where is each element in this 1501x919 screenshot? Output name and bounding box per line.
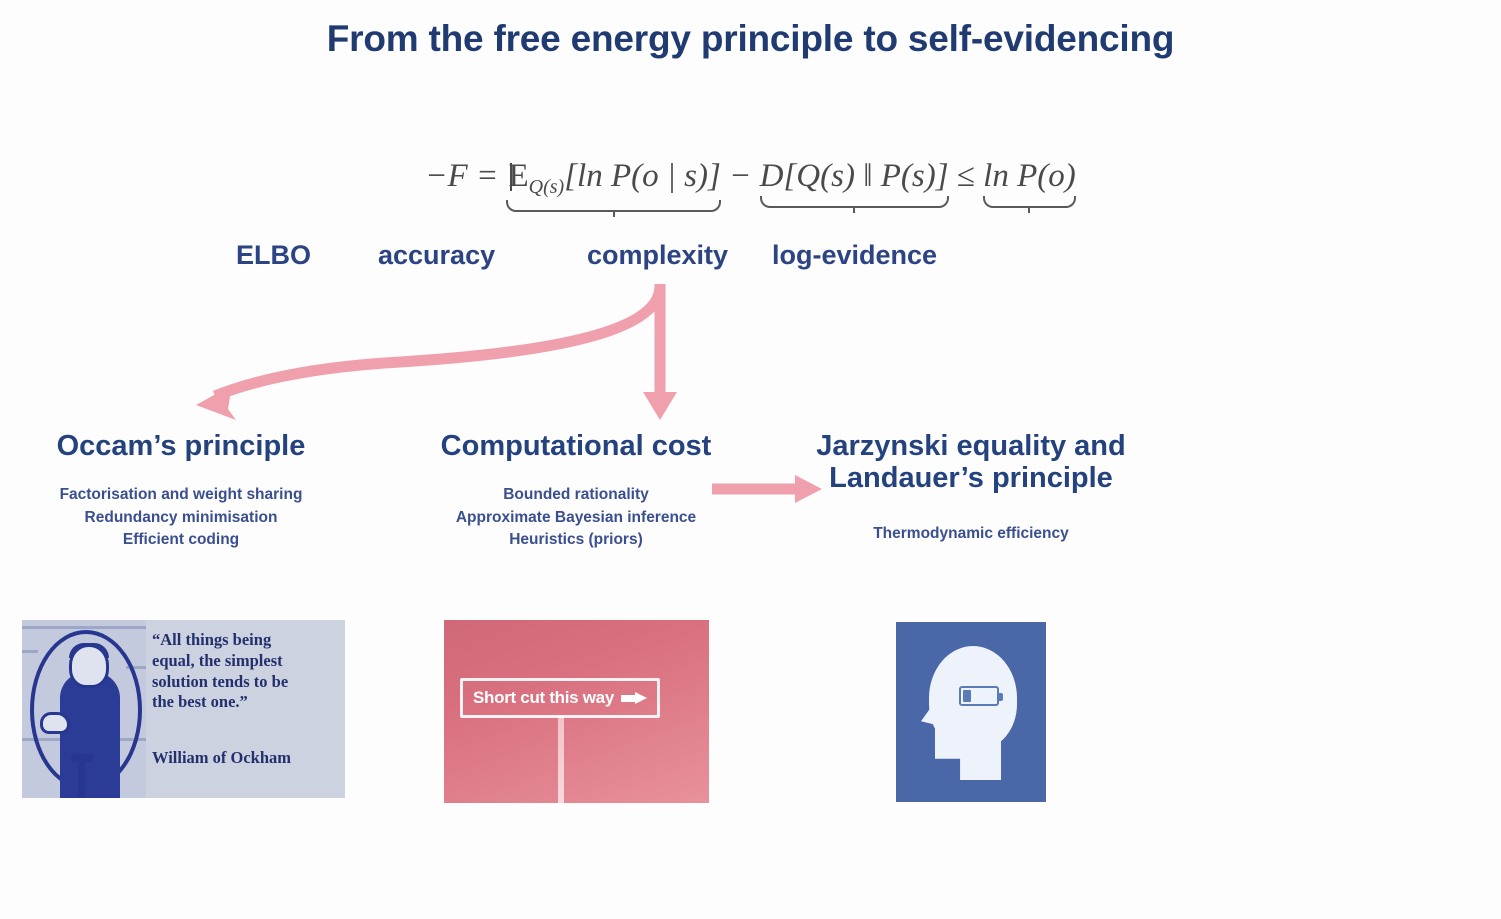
heading-line: Computational cost bbox=[420, 430, 732, 462]
monk-staff bbox=[78, 758, 85, 798]
page-title: From the free energy principle to self-e… bbox=[0, 18, 1501, 60]
down-arrow-head bbox=[643, 392, 677, 420]
bullet-line: Efficient coding bbox=[20, 529, 342, 551]
sign-label: Short cut this way bbox=[473, 688, 614, 708]
head-jaw bbox=[935, 724, 1001, 780]
curved-arrow-to-occam bbox=[215, 286, 660, 396]
low-battery-icon bbox=[959, 686, 999, 706]
heading-line: Jarzynski equality and bbox=[805, 430, 1137, 462]
monk-robe bbox=[60, 672, 120, 798]
sign-post bbox=[558, 716, 564, 803]
evidence-term: ln P(o) bbox=[983, 158, 1076, 194]
heading-line: Occam’s principle bbox=[20, 430, 342, 462]
free-energy-equation: −F = EQ(s)[ln P(o | s)] − D[Q(s) ‖ P(s)]… bbox=[425, 160, 1075, 197]
column-heading-occams-principle: Occam’s principle bbox=[20, 430, 342, 462]
monk-face bbox=[69, 644, 109, 688]
accuracy-underbrace bbox=[506, 200, 720, 215]
short-cut-sign-image: Short cut this way bbox=[444, 620, 709, 803]
inequality-symbol: ≤ bbox=[957, 158, 975, 194]
heading-line: Landauer’s principle bbox=[805, 462, 1137, 494]
complexity-term-group: D[Q(s) ‖ P(s)] bbox=[760, 160, 949, 193]
bullet-line: Factorisation and weight sharing bbox=[20, 484, 342, 506]
equation-label-complexity: complexity bbox=[587, 240, 728, 271]
quote-line: the best one.” bbox=[152, 692, 341, 713]
evidence-underbrace bbox=[983, 196, 1076, 211]
quote-line: solution tends to be bbox=[152, 672, 341, 693]
column-jarzynski-landauer: Jarzynski equality and Landauer’s princi… bbox=[805, 430, 1137, 545]
expectation-subscript: Q(s) bbox=[529, 176, 565, 198]
bullet-line: Approximate Bayesian inference bbox=[420, 507, 732, 529]
sign-board: Short cut this way bbox=[460, 678, 660, 718]
head-silhouette-icon bbox=[921, 646, 1017, 780]
column-bullets-computational-cost: Bounded rationality Approximate Bayesian… bbox=[420, 484, 732, 551]
ockham-quote-text: “All things being equal, the simplest so… bbox=[152, 630, 341, 713]
equation-label-log-evidence: log-evidence bbox=[772, 240, 937, 271]
equation-labels: ELBO accuracy complexity log-evidence bbox=[0, 240, 1501, 280]
head-battery-image bbox=[896, 622, 1046, 802]
right-arrow-icon bbox=[621, 692, 647, 704]
battery-fill bbox=[963, 690, 971, 702]
expectation-symbol: E bbox=[506, 160, 528, 193]
divergence-term: D[Q(s) ‖ P(s)] bbox=[760, 158, 949, 194]
complexity-underbrace bbox=[760, 196, 949, 211]
curved-arrow-head bbox=[196, 385, 236, 420]
monk-hand bbox=[40, 712, 70, 734]
equation-minus: − bbox=[729, 158, 751, 194]
quote-line: equal, the simplest bbox=[152, 651, 341, 672]
accuracy-term-group: EQ(s)[ln P(o | s)] bbox=[506, 160, 720, 197]
equation-label-elbo: ELBO bbox=[236, 240, 311, 271]
bullet-line: Heuristics (priors) bbox=[420, 529, 732, 551]
equation-label-accuracy: accuracy bbox=[378, 240, 495, 271]
sign-text-row: Short cut this way bbox=[463, 681, 657, 715]
bullet-line: Redundancy minimisation bbox=[20, 507, 342, 529]
column-heading-jarzynski-landauer: Jarzynski equality and Landauer’s princi… bbox=[805, 430, 1137, 495]
equation-lhs: −F = bbox=[425, 158, 498, 194]
column-occams-principle: Occam’s principle Factorisation and weig… bbox=[20, 430, 342, 552]
equation-block: −F = EQ(s)[ln P(o | s)] − D[Q(s) ‖ P(s)]… bbox=[0, 160, 1501, 197]
column-bullets-jarzynski-landauer: Thermodynamic efficiency bbox=[805, 523, 1137, 545]
column-bullets-occams-principle: Factorisation and weight sharing Redunda… bbox=[20, 484, 342, 551]
ockham-attribution: William of Ockham bbox=[152, 748, 291, 768]
accuracy-term: [ln P(o | s)] bbox=[564, 158, 721, 194]
column-heading-computational-cost: Computational cost bbox=[420, 430, 732, 462]
bullet-line: Bounded rationality bbox=[420, 484, 732, 506]
ockham-stained-glass-illustration bbox=[22, 620, 146, 798]
evidence-term-group: ln P(o) bbox=[983, 160, 1076, 193]
quote-line: “All things being bbox=[152, 630, 341, 651]
column-computational-cost: Computational cost Bounded rationality A… bbox=[420, 430, 732, 552]
bullet-line: Thermodynamic efficiency bbox=[805, 523, 1137, 545]
ockham-quote-image: “All things being equal, the simplest so… bbox=[22, 620, 345, 798]
